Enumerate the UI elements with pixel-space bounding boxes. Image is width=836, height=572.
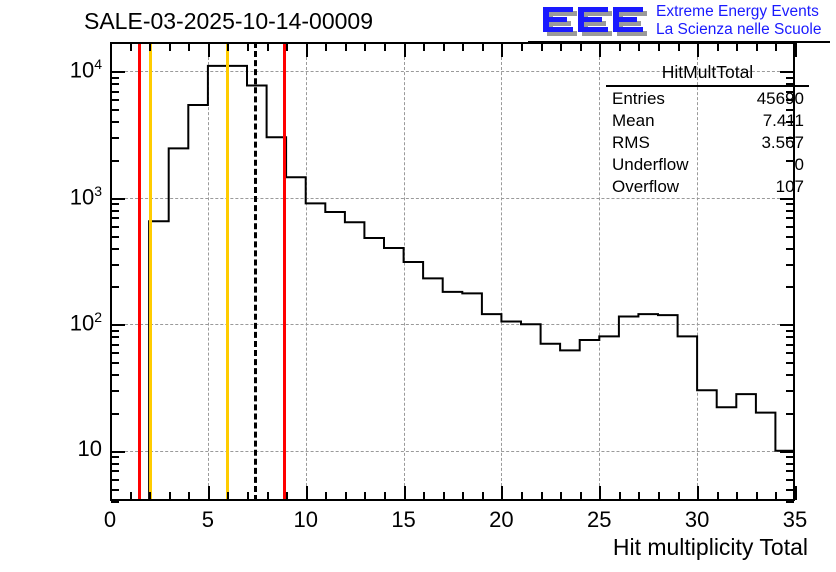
y-minor-tick: [111, 226, 119, 228]
x-minor-tick-top: [756, 43, 758, 51]
eee-logo-line1: Extreme Energy Events: [656, 3, 821, 21]
x-minor-tick: [521, 492, 523, 500]
y-minor-tick-right: [786, 489, 794, 491]
x-minor-tick: [756, 492, 758, 500]
y-minor-tick: [111, 390, 119, 392]
y-minor-tick: [111, 236, 119, 238]
eee-logo-line2: La Scienza nelle Scuole: [656, 21, 821, 39]
x-major-tick: [697, 486, 699, 500]
stats-value: 45690: [757, 88, 804, 110]
y-minor-tick-right: [786, 390, 794, 392]
y-tick-label: 103: [6, 183, 102, 210]
x-minor-tick: [462, 492, 464, 500]
x-major-tick-top: [501, 43, 503, 57]
x-minor-tick: [227, 492, 229, 500]
x-tick-label: 25: [559, 507, 639, 533]
x-minor-tick: [638, 492, 640, 500]
y-tick-label: 102: [6, 309, 102, 336]
y-minor-tick-right: [786, 456, 794, 458]
x-minor-tick: [736, 492, 738, 500]
x-minor-tick: [169, 492, 171, 500]
y-minor-tick-right: [786, 479, 794, 481]
stats-value: 0: [795, 154, 804, 176]
y-minor-tick: [111, 91, 119, 93]
x-major-tick-top: [404, 43, 406, 57]
x-minor-tick: [149, 492, 151, 500]
x-major-tick-top: [208, 43, 210, 57]
x-minor-tick-top: [658, 43, 660, 51]
x-major-tick-top: [306, 43, 308, 57]
y-major-tick: [111, 451, 125, 453]
stats-box: HitMultTotal Entries45690Mean7.411RMS3.5…: [606, 62, 809, 196]
x-major-tick-top: [795, 43, 797, 57]
x-minor-tick-top: [521, 43, 523, 51]
y-minor-tick: [111, 362, 119, 364]
x-minor-tick: [247, 492, 249, 500]
y-minor-tick-right: [786, 501, 794, 503]
y-minor-tick-right: [786, 463, 794, 465]
x-tick-label: 10: [266, 507, 346, 533]
eee-logo-mark: [542, 4, 650, 38]
y-minor-tick: [111, 413, 119, 415]
x-tick-label: 35: [755, 507, 835, 533]
x-minor-tick-top: [325, 43, 327, 51]
x-major-tick-top: [697, 43, 699, 57]
y-minor-tick: [111, 330, 119, 332]
y-tick-label: 10: [6, 436, 102, 462]
y-minor-tick: [111, 121, 119, 123]
y-minor-tick: [111, 489, 119, 491]
y-minor-tick-right: [786, 286, 794, 288]
y-minor-tick-right: [786, 413, 794, 415]
y-minor-tick: [111, 352, 119, 354]
x-minor-tick-top: [286, 43, 288, 51]
y-minor-tick-right: [786, 336, 794, 338]
stats-key: Entries: [612, 88, 665, 110]
y-major-tick: [111, 71, 125, 73]
x-minor-tick: [345, 492, 347, 500]
y-minor-tick: [111, 479, 119, 481]
x-minor-tick: [560, 492, 562, 500]
y-minor-tick: [111, 210, 119, 212]
stats-row: Mean7.411: [612, 110, 804, 132]
x-minor-tick: [325, 492, 327, 500]
x-major-tick: [306, 486, 308, 500]
x-minor-tick: [482, 492, 484, 500]
y-minor-tick: [111, 286, 119, 288]
y-minor-tick: [111, 344, 119, 346]
x-axis-title: Hit multiplicity Total: [613, 534, 808, 561]
x-tick-label: 20: [461, 507, 541, 533]
x-minor-tick-top: [736, 43, 738, 51]
y-major-tick: [111, 198, 125, 200]
y-minor-tick: [111, 137, 119, 139]
x-major-tick: [795, 486, 797, 500]
x-minor-tick: [658, 492, 660, 500]
y-minor-tick: [111, 77, 119, 79]
page-title: SALE-03-2025-10-14-00009: [84, 8, 373, 35]
y-minor-tick: [111, 160, 119, 162]
x-minor-tick: [423, 492, 425, 500]
x-minor-tick-top: [775, 43, 777, 51]
y-minor-tick: [111, 217, 119, 219]
x-minor-tick-top: [560, 43, 562, 51]
y-minor-tick-right: [786, 236, 794, 238]
y-minor-tick: [111, 501, 119, 503]
stats-key: Overflow: [612, 176, 679, 198]
x-minor-tick-top: [169, 43, 171, 51]
x-minor-tick-top: [130, 43, 132, 51]
x-major-tick: [404, 486, 406, 500]
x-minor-tick: [364, 492, 366, 500]
y-minor-tick-right: [786, 362, 794, 364]
x-minor-tick-top: [638, 43, 640, 51]
y-minor-tick-right: [786, 203, 794, 205]
stats-value: 107: [776, 176, 804, 198]
y-minor-tick: [111, 99, 119, 101]
y-minor-tick: [111, 470, 119, 472]
x-minor-tick-top: [580, 43, 582, 51]
eee-logo-text: Extreme Energy Events La Scienza nelle S…: [656, 3, 821, 39]
y-minor-tick: [111, 248, 119, 250]
y-minor-tick-right: [786, 217, 794, 219]
x-major-tick: [599, 486, 601, 500]
y-minor-tick: [111, 203, 119, 205]
x-tick-label: 15: [364, 507, 444, 533]
x-minor-tick: [384, 492, 386, 500]
x-minor-tick-top: [678, 43, 680, 51]
eee-logo: Extreme Energy Events La Scienza nelle S…: [528, 2, 830, 42]
y-minor-tick-right: [786, 330, 794, 332]
x-minor-tick: [286, 492, 288, 500]
x-tick-label: 5: [168, 507, 248, 533]
x-minor-tick: [717, 492, 719, 500]
x-minor-tick-top: [345, 43, 347, 51]
x-minor-tick-top: [149, 43, 151, 51]
stats-row: Overflow107: [612, 176, 804, 198]
x-minor-tick-top: [384, 43, 386, 51]
x-minor-tick: [619, 492, 621, 500]
y-minor-tick: [111, 456, 119, 458]
y-minor-tick: [111, 336, 119, 338]
y-tick-label: 104: [6, 56, 102, 83]
y-major-tick-right: [780, 451, 794, 453]
stats-value: 7.411: [763, 110, 804, 132]
x-minor-tick-top: [443, 43, 445, 51]
y-minor-tick-right: [786, 226, 794, 228]
x-minor-tick-top: [482, 43, 484, 51]
x-minor-tick-top: [541, 43, 543, 51]
y-minor-tick-right: [786, 264, 794, 266]
x-minor-tick: [130, 492, 132, 500]
x-minor-tick: [267, 492, 269, 500]
x-minor-tick-top: [423, 43, 425, 51]
x-tick-label: 30: [657, 507, 737, 533]
stats-row: Underflow0: [612, 154, 804, 176]
stats-value: 3.567: [761, 132, 804, 154]
y-minor-tick: [111, 264, 119, 266]
y-minor-tick-right: [786, 470, 794, 472]
y-minor-tick: [111, 83, 119, 85]
x-major-tick-top: [110, 43, 112, 57]
stats-key: Mean: [612, 110, 655, 132]
stats-key: Underflow: [612, 154, 689, 176]
x-minor-tick: [443, 492, 445, 500]
x-major-tick: [501, 486, 503, 500]
stats-title: HitMultTotal: [606, 62, 809, 87]
x-minor-tick-top: [462, 43, 464, 51]
root-histogram-canvas: SALE-03-2025-10-14-00009 Extreme Energy …: [0, 0, 836, 572]
y-minor-tick: [111, 463, 119, 465]
stats-key: RMS: [612, 132, 650, 154]
x-minor-tick-top: [717, 43, 719, 51]
x-major-tick: [208, 486, 210, 500]
x-minor-tick: [188, 492, 190, 500]
x-minor-tick: [580, 492, 582, 500]
x-major-tick-top: [599, 43, 601, 57]
y-major-tick-right: [780, 324, 794, 326]
x-minor-tick: [775, 492, 777, 500]
y-minor-tick-right: [786, 210, 794, 212]
x-minor-tick-top: [227, 43, 229, 51]
x-minor-tick-top: [267, 43, 269, 51]
x-minor-tick-top: [188, 43, 190, 51]
y-minor-tick-right: [786, 248, 794, 250]
stats-row: RMS3.567: [612, 132, 804, 154]
y-minor-tick-right: [786, 344, 794, 346]
y-minor-tick-right: [786, 374, 794, 376]
x-minor-tick-top: [247, 43, 249, 51]
x-minor-tick: [541, 492, 543, 500]
y-major-tick: [111, 324, 125, 326]
stats-row: Entries45690: [612, 88, 804, 110]
y-minor-tick: [111, 374, 119, 376]
y-minor-tick-right: [786, 352, 794, 354]
x-tick-label: 0: [70, 507, 150, 533]
x-minor-tick-top: [619, 43, 621, 51]
y-minor-tick: [111, 109, 119, 111]
x-minor-tick: [678, 492, 680, 500]
x-minor-tick-top: [364, 43, 366, 51]
